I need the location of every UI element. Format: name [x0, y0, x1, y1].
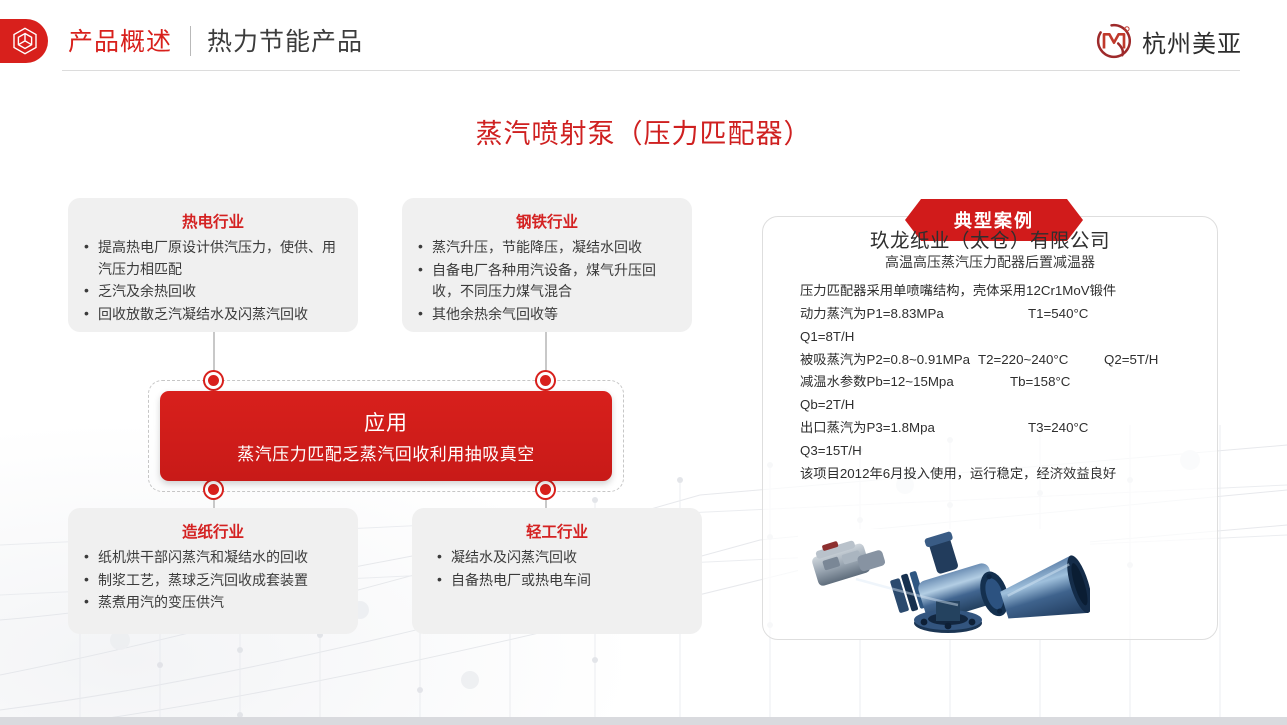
spec-text: 被吸蒸汽为P2=0.8~0.91MPa [800, 349, 978, 372]
hexagon-cube-icon [0, 19, 48, 63]
spec-text: Q2=5T/H [1104, 349, 1158, 372]
connector-dot-bottom-right [537, 481, 554, 498]
spec-text: Q1=8T/H [800, 326, 854, 349]
spec-text: T3=240°C [1028, 417, 1088, 440]
list-item: 自备电厂各种用汽设备，煤气升压回收，不同压力煤气混合 [416, 260, 678, 303]
card-bullet-list: 提高热电厂原设计供汽压力，使供、用汽压力相匹配 乏汽及余热回收 回收放散乏汽凝结… [82, 237, 344, 326]
meiya-m-logo-icon [1094, 21, 1134, 61]
spec-row: Qb=2T/H [800, 394, 1212, 417]
slide-title: 蒸汽喷射泵（压力匹配器） [0, 112, 1287, 151]
page-header: 产品概述 热力节能产品 杭州美亚 [0, 0, 1287, 80]
card-thermal-power[interactable]: 热电行业 提高热电厂原设计供汽压力，使供、用汽压力相匹配 乏汽及余热回收 回收放… [68, 198, 358, 332]
card-title: 热电行业 [82, 210, 344, 232]
card-bullet-list: 凝结水及闪蒸汽回收 自备热电厂或热电车间 [426, 547, 688, 591]
list-item: 回收放散乏汽凝结水及闪蒸汽回收 [82, 304, 344, 326]
spec-text: 出口蒸汽为P3=1.8Mpa [800, 417, 1028, 440]
case-spec-list: 压力匹配器采用单喷嘴结构，壳体采用12Cr1MoV锻件 动力蒸汽为P1=8.83… [800, 280, 1212, 486]
list-item: 蒸汽升压，节能降压，凝结水回收 [416, 237, 678, 259]
steam-ejector-pump-photo [798, 529, 1090, 639]
list-item: 凝结水及闪蒸汽回收 [426, 547, 688, 569]
connector-dot-top-left [205, 372, 222, 389]
brand-logo: 杭州美亚 [1094, 21, 1242, 61]
spec-text: 动力蒸汽为P1=8.83MPa [800, 303, 1028, 326]
list-item: 其他余热余气回收等 [416, 304, 678, 326]
page-title: 产品概述 [68, 22, 172, 58]
application-banner-title: 应用 [364, 407, 408, 437]
spec-row: Q1=8T/H [800, 326, 1212, 349]
list-item: 纸机烘干部闪蒸汽和凝结水的回收 [82, 547, 344, 569]
list-item: 制浆工艺，蒸球乏汽回收成套装置 [82, 570, 344, 592]
card-steel[interactable]: 钢铁行业 蒸汽升压，节能降压，凝结水回收 自备电厂各种用汽设备，煤气升压回收，不… [402, 198, 692, 332]
spec-text: Q3=15T/H [800, 440, 862, 463]
spec-text: T1=540°C [1028, 303, 1088, 326]
card-title: 造纸行业 [82, 520, 344, 542]
card-bullet-list: 纸机烘干部闪蒸汽和凝结水的回收 制浆工艺，蒸球乏汽回收成套装置 蒸煮用汽的变压供… [82, 547, 344, 614]
spec-row: 出口蒸汽为P3=1.8Mpa T3=240°C [800, 417, 1212, 440]
spec-text: 减温水参数Pb=12~15Mpa [800, 371, 1010, 394]
spec-text: Qb=2T/H [800, 394, 854, 417]
spec-row: 被吸蒸汽为P2=0.8~0.91MPa T2=220~240°C Q2=5T/H [800, 349, 1212, 372]
list-item: 提高热电厂原设计供汽压力，使供、用汽压力相匹配 [82, 237, 344, 280]
header-rule [62, 70, 1240, 71]
header-divider [190, 26, 191, 56]
case-subtitle: 高温高压蒸汽压力配器后置减温器 [762, 252, 1218, 272]
spec-row: Q3=15T/H [800, 440, 1212, 463]
list-item: 乏汽及余热回收 [82, 281, 344, 303]
spec-row: 该项目2012年6月投入使用，运行稳定，经济效益良好 [800, 463, 1212, 486]
slide-root: 产品概述 热力节能产品 杭州美亚 蒸汽喷射泵（压力匹配器） 热电行 [0, 0, 1287, 725]
spec-row: 动力蒸汽为P1=8.83MPa T1=540°C [800, 303, 1212, 326]
application-banner-subtitle: 蒸汽压力匹配乏蒸汽回收利用抽吸真空 [237, 440, 535, 465]
card-title: 钢铁行业 [416, 210, 678, 232]
spec-row: 压力匹配器采用单喷嘴结构，壳体采用12Cr1MoV锻件 [800, 280, 1212, 303]
industry-diagram: 热电行业 提高热电厂原设计供汽压力，使供、用汽压力相匹配 乏汽及余热回收 回收放… [0, 180, 740, 660]
spec-row: 减温水参数Pb=12~15Mpa Tb=158°C [800, 371, 1212, 394]
bottom-edge-strip [0, 717, 1287, 725]
list-item: 自备热电厂或热电车间 [426, 570, 688, 592]
card-title: 轻工行业 [426, 520, 688, 542]
spec-text: 压力匹配器采用单喷嘴结构，壳体采用12Cr1MoV锻件 [800, 280, 1116, 303]
page-subtitle: 热力节能产品 [207, 22, 363, 58]
card-papermaking[interactable]: 造纸行业 纸机烘干部闪蒸汽和凝结水的回收 制浆工艺，蒸球乏汽回收成套装置 蒸煮用… [68, 508, 358, 634]
spec-text: T2=220~240°C [978, 349, 1104, 372]
connector-dot-top-right [537, 372, 554, 389]
spec-text: 该项目2012年6月投入使用，运行稳定，经济效益良好 [800, 463, 1116, 486]
list-item: 蒸煮用汽的变压供汽 [82, 592, 344, 614]
card-bullet-list: 蒸汽升压，节能降压，凝结水回收 自备电厂各种用汽设备，煤气升压回收，不同压力煤气… [416, 237, 678, 326]
case-company-name: 玖龙纸业（太仓）有限公司 [762, 224, 1218, 253]
connector-dot-bottom-left [205, 481, 222, 498]
card-light-industry[interactable]: 轻工行业 凝结水及闪蒸汽回收 自备热电厂或热电车间 [412, 508, 702, 634]
spec-text: Tb=158°C [1010, 371, 1070, 394]
brand-name: 杭州美亚 [1142, 24, 1242, 59]
application-banner[interactable]: 应用 蒸汽压力匹配乏蒸汽回收利用抽吸真空 [160, 391, 612, 481]
